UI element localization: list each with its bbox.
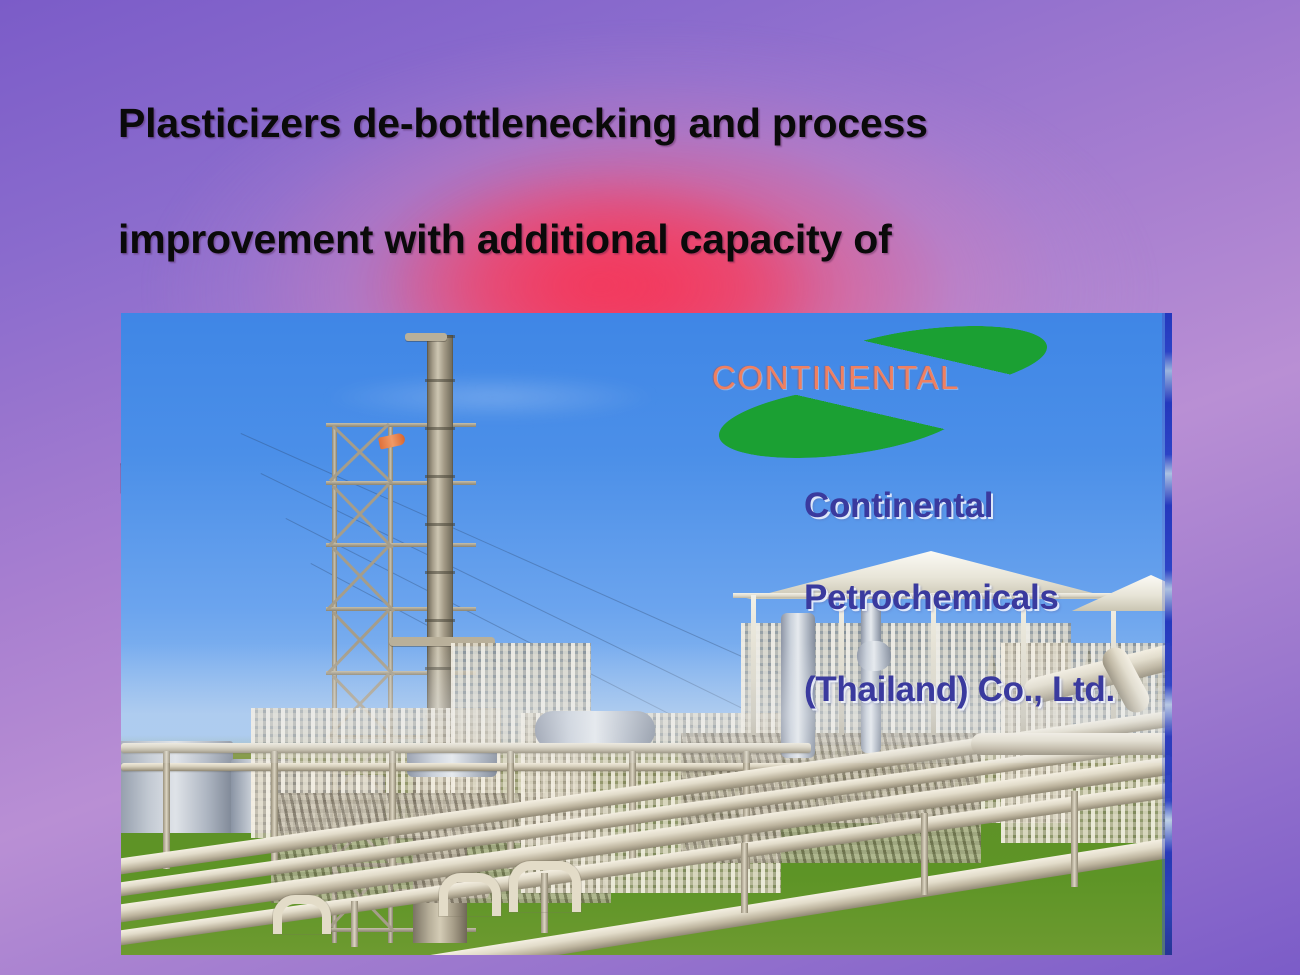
pipe-rack-beam <box>121 763 811 771</box>
pipe-support-leg <box>741 843 748 913</box>
presentation-slide: Plasticizers de-bottlenecking and proces… <box>0 0 1300 975</box>
video-capture-artifact <box>1165 313 1172 955</box>
cloud-wisp <box>321 373 661 421</box>
slide-title-line-1: Plasticizers de-bottlenecking and proces… <box>118 94 1118 152</box>
chimney-stack <box>427 335 453 765</box>
plant-photograph: CONTINENTAL Continental Petrochemicals (… <box>121 313 1172 955</box>
pipe-u-bend <box>439 873 501 916</box>
pipe-support-leg <box>1071 791 1078 887</box>
pipe-support-leg <box>351 901 358 947</box>
logo-company-name: Continental Petrochemicals (Thailand) Co… <box>804 437 1115 713</box>
large-horizontal-pipe <box>971 733 1172 755</box>
stack-cap <box>405 333 447 341</box>
storage-tank <box>121 741 233 833</box>
pipe-u-bend <box>509 861 581 912</box>
logo-wordmark: CONTINENTAL <box>712 359 960 397</box>
slide-title-line-2: improvement with additional capacity of <box>118 210 1118 268</box>
process-shed-column <box>751 595 756 735</box>
company-logo: CONTINENTAL Continental Petrochemicals (… <box>686 325 1156 595</box>
logo-company-name-line-1: Continental <box>804 486 993 525</box>
logo-company-name-line-3: (Thailand) Co., Ltd. <box>804 670 1115 709</box>
pipe-rack-beam <box>121 743 811 753</box>
logo-company-name-line-2: Petrochemicals <box>804 578 1059 617</box>
pipe-u-bend <box>273 895 331 934</box>
pipe-support-leg <box>921 813 928 895</box>
